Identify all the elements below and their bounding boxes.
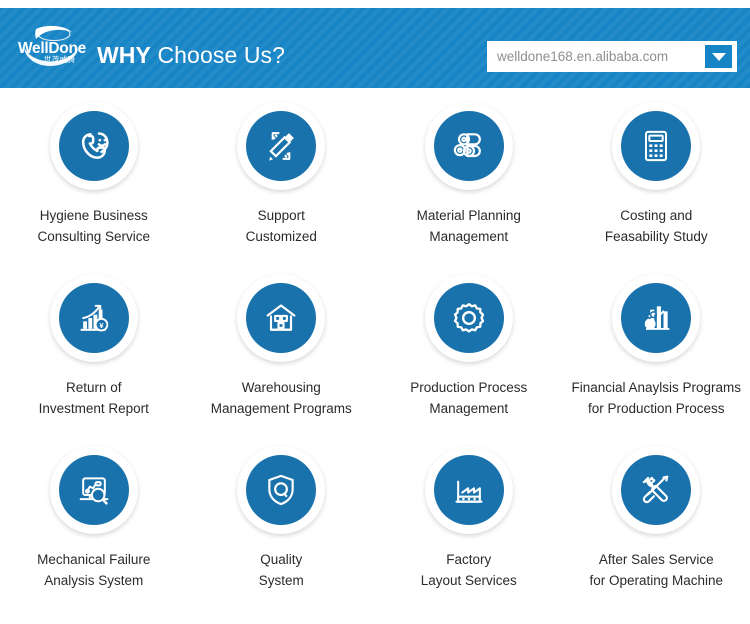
pencil-ruler-customize-icon bbox=[261, 126, 301, 166]
feature-icon-badge bbox=[50, 446, 138, 534]
feature-label: Quality System bbox=[255, 549, 308, 591]
feature-icon-badge bbox=[425, 274, 513, 362]
feature-item[interactable]: Costing and Feasability Study bbox=[563, 96, 750, 268]
feature-item[interactable]: ¥ Return of Investment Report bbox=[0, 268, 188, 440]
feature-item[interactable]: Support Customized bbox=[188, 96, 376, 268]
feature-label: Material Planning Management bbox=[413, 205, 525, 247]
feature-icon-badge bbox=[425, 446, 513, 534]
feature-icon-badge bbox=[237, 102, 325, 190]
feature-icon-badge bbox=[237, 446, 325, 534]
feature-icon-badge: ¥ bbox=[50, 274, 138, 362]
feature-label: Costing and Feasability Study bbox=[601, 205, 712, 247]
store-url-text[interactable]: welldone168.en.alibaba.com bbox=[497, 49, 705, 64]
wrench-screwdriver-icon bbox=[636, 470, 676, 510]
feature-icon-badge bbox=[612, 274, 700, 362]
material-rolls-icon bbox=[449, 126, 489, 166]
feature-icon-badge bbox=[237, 274, 325, 362]
url-dropdown-button[interactable] bbox=[705, 45, 732, 68]
feature-item[interactable]: After Sales Service for Operating Machin… bbox=[563, 440, 750, 612]
feature-icon-disc: ¥ bbox=[59, 283, 129, 353]
feature-label: Support Customized bbox=[242, 205, 321, 247]
page-title: WHY Choose Us? bbox=[97, 41, 285, 69]
feature-icon-disc bbox=[59, 455, 129, 525]
feature-label: Mechanical Failure Analysis System bbox=[33, 549, 154, 591]
feature-label: After Sales Service for Operating Machin… bbox=[585, 549, 727, 591]
feature-label: Production Process Management bbox=[406, 377, 531, 419]
gear-icon bbox=[449, 298, 489, 338]
shield-quality-q-icon bbox=[261, 470, 301, 510]
feature-icon-disc bbox=[434, 455, 504, 525]
feature-icon-disc bbox=[621, 283, 691, 353]
feature-icon-badge bbox=[612, 102, 700, 190]
feature-item[interactable]: Warehousing Management Programs bbox=[188, 268, 376, 440]
feature-icon-disc bbox=[621, 111, 691, 181]
feature-icon-badge bbox=[50, 102, 138, 190]
feature-icon-disc bbox=[59, 111, 129, 181]
warehouse-boxes-icon bbox=[261, 298, 301, 338]
page-header: WellDone 世茂威腾 WHY Choose Us? welldone168… bbox=[0, 8, 750, 88]
feature-label: Hygiene Business Consulting Service bbox=[33, 205, 154, 247]
feature-label: Financial Anaylsis Programs for Producti… bbox=[567, 377, 745, 419]
feature-label: Warehousing Management Programs bbox=[207, 377, 356, 419]
feature-icon-disc bbox=[246, 111, 316, 181]
growth-chart-currency-icon: ¥ bbox=[74, 298, 114, 338]
feature-item[interactable]: Quality System bbox=[188, 440, 376, 612]
calculator-icon bbox=[636, 126, 676, 166]
feature-item[interactable]: Production Process Management bbox=[375, 268, 563, 440]
svg-text:世茂威腾: 世茂威腾 bbox=[44, 54, 75, 64]
feature-icon-disc bbox=[434, 283, 504, 353]
feature-item[interactable]: Material Planning Management bbox=[375, 96, 563, 268]
financial-analysis-chart-icon bbox=[636, 298, 676, 338]
feature-icon-disc bbox=[621, 455, 691, 525]
store-url-bar[interactable]: welldone168.en.alibaba.com bbox=[487, 41, 737, 72]
welldone-logo[interactable]: WellDone 世茂威腾 bbox=[16, 25, 98, 71]
factory-building-icon bbox=[449, 470, 489, 510]
page-title-emphasis: WHY bbox=[97, 42, 151, 68]
feature-icon-badge bbox=[612, 446, 700, 534]
feature-grid: Hygiene Business Consulting Service bbox=[0, 88, 750, 624]
page-title-rest: Choose Us? bbox=[151, 42, 285, 68]
feature-icon-disc bbox=[246, 283, 316, 353]
chevron-down-icon bbox=[712, 53, 726, 61]
feature-label: Return of Investment Report bbox=[35, 377, 153, 419]
page-root: WellDone 世茂威腾 WHY Choose Us? welldone168… bbox=[0, 0, 750, 624]
feature-item[interactable]: Factory Layout Services bbox=[375, 440, 563, 612]
feature-icon-disc bbox=[246, 455, 316, 525]
feature-item[interactable]: Hygiene Business Consulting Service bbox=[0, 96, 188, 268]
feature-label: Factory Layout Services bbox=[417, 549, 521, 591]
feature-icon-disc bbox=[434, 111, 504, 181]
phone-support-smiley-icon bbox=[74, 126, 114, 166]
feature-icon-badge bbox=[425, 102, 513, 190]
monitor-robot-magnifier-icon bbox=[74, 470, 114, 510]
feature-item[interactable]: Financial Anaylsis Programs for Producti… bbox=[563, 268, 750, 440]
feature-item[interactable]: Mechanical Failure Analysis System bbox=[0, 440, 188, 612]
